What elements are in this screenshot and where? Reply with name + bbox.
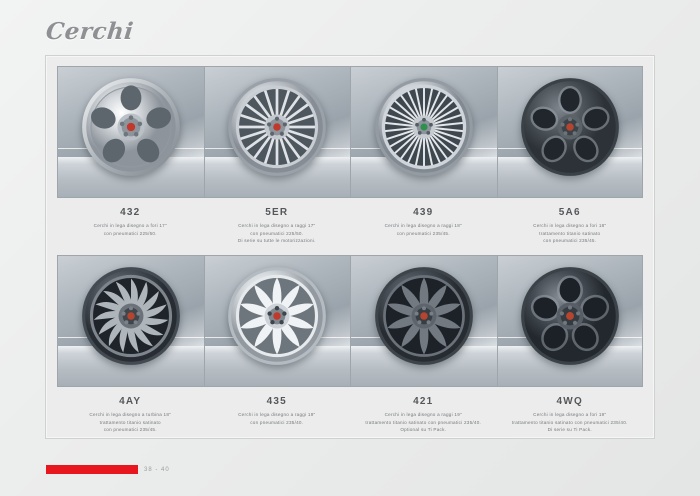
wheel-desc-line: trattamento titanio satinato — [57, 419, 204, 427]
page-title: Cerchi — [45, 18, 135, 45]
wheel-code: 4AY — [57, 396, 204, 407]
wheel-cell-5a6[interactable]: 5A6 Cerchi in lega disegno a fori 18" tr… — [497, 66, 644, 245]
wheel-multi-spoke-icon — [225, 75, 329, 179]
wheel-photo-4ay — [57, 255, 204, 387]
wheel-row-top: 432 Cerchi in lega disegno a fori 17" co… — [57, 66, 643, 245]
wheel-code: 435 — [204, 396, 351, 407]
wheel-cell-435[interactable]: 435 Cerchi in lega disegno a raggi 19" c… — [204, 255, 351, 434]
wheel-10-spoke-icon — [225, 264, 329, 368]
wheel-desc-line: con pneumatici 235/45. — [350, 230, 497, 238]
wheel-caption-421: 421 Cerchi in lega disegno a raggi 19" t… — [350, 387, 497, 434]
wheel-photo-435 — [204, 255, 351, 387]
wheel-fine-spoke-icon — [372, 75, 476, 179]
wheel-desc-line: Cerchi in lega disegno a raggi 19" — [350, 411, 497, 419]
page-footer: 38 - 40 — [46, 465, 170, 474]
wheel-photo-432 — [57, 66, 204, 198]
wheel-photo-5a6 — [497, 66, 644, 198]
wheel-desc-line: con pneumatici 225/50. — [204, 230, 351, 238]
wheel-desc-line: Di serie su Ti Pack. — [497, 426, 644, 434]
wheel-desc-line: Cerchi in lega disegno a raggi 17" — [204, 222, 351, 230]
wheel-desc-line: Cerchi in lega disegno a raggi 19" — [204, 411, 351, 419]
wheel-caption-4ay: 4AY Cerchi in lega disegno a turbina 18"… — [57, 387, 204, 434]
wheel-desc-line: Cerchi in lega disegno a turbina 18" — [57, 411, 204, 419]
wheel-5-hole-dark-icon — [518, 264, 622, 368]
wheel-code: 5A6 — [497, 207, 644, 218]
wheel-photo-421 — [350, 255, 497, 387]
wheel-caption-439: 439 Cerchi in lega disegno a raggi 18" c… — [350, 198, 497, 237]
wheels-panel: 432 Cerchi in lega disegno a fori 17" co… — [45, 55, 655, 439]
wheel-desc-line: con pneumatici 225/50. — [57, 230, 204, 238]
wheel-5-spoke-icon — [79, 75, 183, 179]
wheel-cell-432[interactable]: 432 Cerchi in lega disegno a fori 17" co… — [57, 66, 204, 245]
wheel-desc-line: trattamento titanio satinato con pneumat… — [350, 419, 497, 427]
wheel-cell-4wq[interactable]: 4WQ Cerchi in lega disegno a fori 19" tr… — [497, 255, 644, 434]
wheel-cell-439[interactable]: 439 Cerchi in lega disegno a raggi 18" c… — [350, 66, 497, 245]
wheel-desc-line: Cerchi in lega disegno a fori 18" — [497, 222, 644, 230]
wheel-caption-5a6: 5A6 Cerchi in lega disegno a fori 18" tr… — [497, 198, 644, 245]
wheel-10-spoke-dark-icon — [372, 264, 476, 368]
wheel-code: 439 — [350, 207, 497, 218]
wheel-desc-line: con pneumatici 235/45. — [57, 426, 204, 434]
wheel-row-bottom: 4AY Cerchi in lega disegno a turbina 18"… — [57, 255, 643, 434]
wheel-desc-line: Cerchi in lega disegno a fori 17" — [57, 222, 204, 230]
wheel-desc-line: trattamento titanio satinato — [497, 230, 644, 238]
wheel-code: 5ER — [204, 207, 351, 218]
wheel-desc-line: Optional su Ti Pack. — [350, 426, 497, 434]
wheel-code: 4WQ — [497, 396, 644, 407]
wheel-desc-line: Di serie su tutte le motorizzazioni. — [204, 237, 351, 245]
wheel-cell-421[interactable]: 421 Cerchi in lega disegno a raggi 19" t… — [350, 255, 497, 434]
wheel-code: 421 — [350, 396, 497, 407]
wheel-5-hole-icon — [518, 75, 622, 179]
brochure-page: Cerchi — [0, 0, 700, 496]
footer-accent-bar — [46, 465, 138, 474]
wheel-cell-5er[interactable]: 5ER Cerchi in lega disegno a raggi 17" c… — [204, 66, 351, 245]
wheel-photo-4wq — [497, 255, 644, 387]
wheel-desc-line: con pneumatici 235/45. — [497, 237, 644, 245]
wheel-photo-5er — [204, 66, 351, 198]
page-number: 38 - 40 — [144, 467, 170, 473]
wheel-code: 432 — [57, 207, 204, 218]
wheel-desc-line: con pneumatici 235/40. — [204, 419, 351, 427]
wheel-caption-435: 435 Cerchi in lega disegno a raggi 19" c… — [204, 387, 351, 426]
wheel-desc-line: trattamento titanio satinato con pneumat… — [497, 419, 644, 427]
wheel-desc-line: Cerchi in lega disegno a fori 19" — [497, 411, 644, 419]
wheel-cell-4ay[interactable]: 4AY Cerchi in lega disegno a turbina 18"… — [57, 255, 204, 434]
wheel-caption-5er: 5ER Cerchi in lega disegno a raggi 17" c… — [204, 198, 351, 245]
wheel-caption-432: 432 Cerchi in lega disegno a fori 17" co… — [57, 198, 204, 237]
wheel-caption-4wq: 4WQ Cerchi in lega disegno a fori 19" tr… — [497, 387, 644, 434]
wheel-desc-line: Cerchi in lega disegno a raggi 18" — [350, 222, 497, 230]
wheel-photo-439 — [350, 66, 497, 198]
wheel-turbine-icon — [79, 264, 183, 368]
